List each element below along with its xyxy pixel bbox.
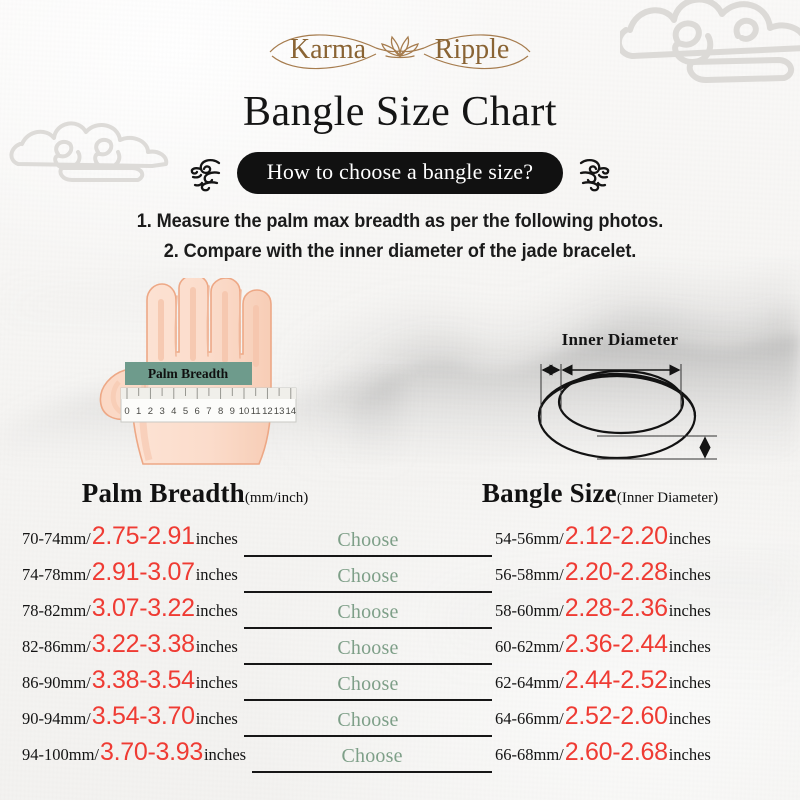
svg-text:13: 13 (274, 406, 285, 417)
svg-text:8: 8 (218, 406, 223, 417)
choose-label: Choose (244, 565, 492, 591)
palm-inch-value: 2.75-2.91 (92, 522, 195, 551)
svg-text:9: 9 (230, 406, 235, 417)
bangle-mm-value: 60-62mm/ (495, 637, 564, 657)
swirl-flourish-icon-left (189, 153, 223, 193)
choose-underline (244, 555, 492, 557)
palm-inch-value: 3.38-3.54 (92, 666, 195, 695)
choose-field[interactable]: Choose (244, 601, 492, 629)
choose-field[interactable]: Choose (244, 709, 492, 737)
jade-bangle-ring-icon (505, 328, 735, 473)
palm-inch-value: 3.07-3.22 (92, 594, 195, 623)
choose-field[interactable]: Choose (244, 565, 492, 593)
svg-text:7: 7 (206, 406, 211, 417)
palm-breadth-heading-sub: (mm/inch) (245, 490, 308, 506)
palm-breadth-section-heading: Palm Breadth(mm/inch) (0, 478, 390, 509)
palm-mm-value: 94-100mm/ (22, 745, 99, 765)
svg-text:12: 12 (262, 406, 273, 417)
ruler-icon: 012 345 678 91011 121314 (121, 388, 296, 422)
bangle-unit-label: inches (669, 673, 711, 693)
bangle-inch-value: 2.20-2.28 (565, 558, 668, 587)
bangle-size-chart-page: Karma Ripple Bangle Size Chart How to ch… (0, 0, 800, 800)
choose-field[interactable]: Choose (244, 637, 492, 665)
bangle-mm-value: 64-66mm/ (495, 709, 564, 729)
bangle-unit-label: inches (669, 637, 711, 657)
svg-text:0: 0 (124, 406, 129, 417)
svg-text:11: 11 (251, 406, 261, 417)
instruction-step-1: 1. Measure the palm max breadth as per t… (28, 206, 772, 236)
bangle-mm-value: 56-58mm/ (495, 565, 564, 585)
open-palm-hand-icon: Palm Breadth 012 345 678 91011 121314 (95, 278, 345, 468)
bangle-size-heading-title: Bangle Size (482, 478, 617, 508)
table-row: 54-56mm/2.12-2.20inches (495, 522, 795, 558)
choose-label: Choose (244, 673, 492, 699)
bangle-mm-value: 58-60mm/ (495, 601, 564, 621)
palm-breadth-heading-title: Palm Breadth (82, 478, 245, 508)
table-row: 64-66mm/2.52-2.60inches (495, 702, 795, 738)
choose-field[interactable]: Choose (244, 673, 492, 701)
choose-underline (244, 627, 492, 629)
choose-underline (244, 591, 492, 593)
table-row: 78-82mm/3.07-3.22inchesChoose (22, 594, 492, 630)
choose-underline (244, 699, 492, 701)
table-row: 60-62mm/2.36-2.44inches (495, 630, 795, 666)
palm-unit-label: inches (196, 637, 238, 657)
palm-unit-label: inches (196, 565, 238, 585)
palm-unit-label: inches (196, 709, 238, 729)
brand-name-left: Karma (290, 34, 367, 65)
table-row: 62-64mm/2.44-2.52inches (495, 666, 795, 702)
bangle-mm-value: 54-56mm/ (495, 529, 564, 549)
svg-text:5: 5 (183, 406, 188, 417)
brand-name-right: Ripple (435, 34, 510, 65)
palm-unit-label: inches (196, 601, 238, 621)
bangle-inch-value: 2.52-2.60 (565, 702, 668, 731)
svg-text:4: 4 (171, 406, 176, 417)
palm-mm-value: 90-94mm/ (22, 709, 91, 729)
choose-label: Choose (244, 637, 492, 663)
how-to-banner: How to choose a bangle size? (237, 152, 563, 194)
how-to-banner-row: How to choose a bangle size? (0, 152, 800, 194)
choose-field[interactable]: Choose (252, 745, 492, 773)
table-row: 66-68mm/2.60-2.68inches (495, 738, 795, 774)
bangle-unit-label: inches (669, 709, 711, 729)
page-title: Bangle Size Chart (0, 88, 800, 136)
bangle-mm-value: 62-64mm/ (495, 673, 564, 693)
table-row: 86-90mm/3.38-3.54inchesChoose (22, 666, 492, 702)
bangle-inch-value: 2.12-2.20 (565, 522, 668, 551)
table-row: 94-100mm/3.70-3.93inchesChoose (22, 738, 492, 774)
palm-mm-value: 82-86mm/ (22, 637, 91, 657)
instruction-steps: 1. Measure the palm max breadth as per t… (0, 206, 800, 266)
bangle-inch-value: 2.28-2.36 (565, 594, 668, 623)
choose-label: Choose (244, 601, 492, 627)
instruction-step-2: 2. Compare with the inner diameter of th… (28, 236, 772, 266)
svg-text:14: 14 (286, 406, 297, 417)
bangle-inch-value: 2.36-2.44 (565, 630, 668, 659)
table-row: 56-58mm/2.20-2.28inches (495, 558, 795, 594)
bangle-inch-value: 2.44-2.52 (565, 666, 668, 695)
swirl-flourish-icon-right (577, 153, 611, 193)
bangle-unit-label: inches (669, 745, 711, 765)
table-row: 70-74mm/2.75-2.91inchesChoose (22, 522, 492, 558)
svg-text:10: 10 (239, 406, 250, 417)
choose-label: Choose (244, 529, 492, 555)
bangle-size-heading-sub: (Inner Diameter) (617, 490, 718, 506)
bangle-size-section-heading: Bangle Size(Inner Diameter) (400, 478, 800, 509)
choose-field[interactable]: Choose (244, 529, 492, 557)
palm-mm-value: 70-74mm/ (22, 529, 91, 549)
svg-text:1: 1 (136, 406, 141, 417)
palm-mm-value: 78-82mm/ (22, 601, 91, 621)
bangle-size-table: 54-56mm/2.12-2.20inches56-58mm/2.20-2.28… (495, 522, 795, 774)
choose-label: Choose (252, 745, 492, 771)
svg-text:6: 6 (195, 406, 200, 417)
palm-unit-label: inches (196, 529, 238, 549)
palm-breadth-band-label: Palm Breadth (148, 366, 229, 381)
palm-unit-label: inches (204, 745, 246, 765)
bangle-unit-label: inches (669, 565, 711, 585)
bangle-mm-value: 66-68mm/ (495, 745, 564, 765)
palm-inch-value: 3.70-3.93 (100, 738, 203, 767)
palm-unit-label: inches (196, 673, 238, 693)
choose-underline (252, 771, 492, 773)
table-row: 90-94mm/3.54-3.70inchesChoose (22, 702, 492, 738)
palm-inch-value: 2.91-3.07 (92, 558, 195, 587)
choose-underline (244, 663, 492, 665)
palm-breadth-table: 70-74mm/2.75-2.91inchesChoose74-78mm/2.9… (22, 522, 492, 774)
choose-underline (244, 735, 492, 737)
svg-text:3: 3 (159, 406, 164, 417)
brand-logo: Karma Ripple (0, 22, 800, 76)
palm-mm-value: 86-90mm/ (22, 673, 91, 693)
choose-label: Choose (244, 709, 492, 735)
karma-ripple-logo-svg: Karma Ripple (260, 22, 540, 78)
palm-inch-value: 3.22-3.38 (92, 630, 195, 659)
bangle-inch-value: 2.60-2.68 (565, 738, 668, 767)
palm-inch-value: 3.54-3.70 (92, 702, 195, 731)
table-row: 82-86mm/3.22-3.38inchesChoose (22, 630, 492, 666)
bangle-unit-label: inches (669, 601, 711, 621)
svg-text:2: 2 (148, 406, 153, 417)
table-row: 74-78mm/2.91-3.07inchesChoose (22, 558, 492, 594)
palm-mm-value: 74-78mm/ (22, 565, 91, 585)
bangle-unit-label: inches (669, 529, 711, 549)
table-row: 58-60mm/2.28-2.36inches (495, 594, 795, 630)
